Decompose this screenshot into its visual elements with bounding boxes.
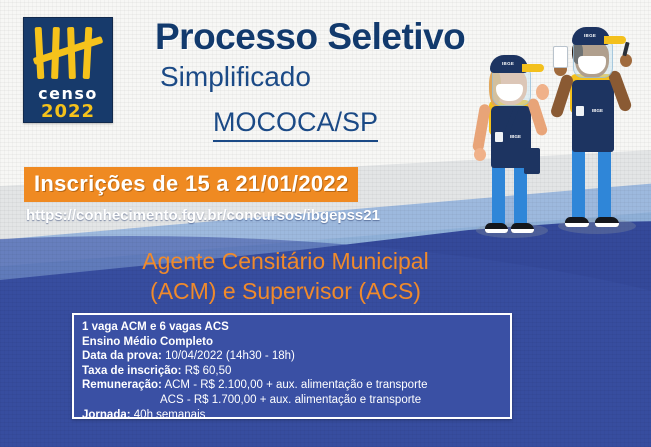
detail-education: Ensino Médio Completo xyxy=(82,335,502,350)
agent-left-cap-brim xyxy=(522,64,544,72)
agent-left-leg-left xyxy=(492,160,505,230)
role-title-line-1: Agente Censitário Municipal xyxy=(142,248,428,274)
tally-mark-4 xyxy=(83,27,93,79)
registration-period-text: Inscrições de 15 a 21/01/2022 xyxy=(34,171,348,196)
role-title-line-2: (ACM) e Supervisor (ACS) xyxy=(0,276,571,306)
agent-right-vest-label: IBGE xyxy=(592,108,603,113)
detail-pay-acs-value: ACS - R$ 1.700,00 + aux. alimentação e t… xyxy=(160,394,421,406)
agent-right-cap-label: IBGE xyxy=(584,33,596,38)
agent-right-sole-right xyxy=(595,223,619,227)
details-box: 1 vaga ACM e 6 vagas ACS Ensino Médio Co… xyxy=(72,313,512,419)
detail-vacancies-text: 1 vaga ACM e 6 vagas ACS xyxy=(82,321,229,333)
agent-left-cap-label: IBGE xyxy=(502,61,514,66)
page-title-city: MOCOCA/SP xyxy=(213,107,378,142)
censo-2022-logo: censo 2022 xyxy=(23,17,113,123)
agent-left-bag xyxy=(524,148,540,174)
agent-right-vest xyxy=(572,80,614,152)
detail-pay-acm: Remuneração: ACM - R$ 2.100,00 + aux. al… xyxy=(82,378,502,393)
poster-root: IBGE IBGE IBGE xyxy=(0,0,651,447)
logo-year-2022: 2022 xyxy=(24,101,112,122)
agent-left-hand-left xyxy=(474,148,486,161)
registration-url[interactable]: https://conhecimento.fgv.br/concursos/ib… xyxy=(26,207,380,224)
agent-right-cap-brim xyxy=(604,36,626,44)
agent-right-leg-left xyxy=(572,146,585,224)
detail-hours-label: Jornada: xyxy=(82,409,131,421)
page-title-line-2: Simplificado xyxy=(160,61,311,93)
detail-fee-label: Taxa de inscrição: xyxy=(82,365,182,377)
detail-fee: Taxa de inscrição: R$ 60,50 xyxy=(82,364,502,379)
detail-exam-date-label: Data da prova: xyxy=(82,350,162,362)
agent-left-id-badge xyxy=(495,132,503,142)
agent-right-id-badge xyxy=(576,106,584,116)
agent-left-sole-right xyxy=(511,229,534,233)
detail-exam-date: Data da prova: 10/04/2022 (14h30 - 18h) xyxy=(82,349,502,364)
detail-pay-acs: ACS - R$ 1.700,00 + aux. alimentação e t… xyxy=(82,393,502,408)
illustration-agent-left: IBGE IBGE xyxy=(462,48,572,268)
detail-exam-date-value: 10/04/2022 (14h30 - 18h) xyxy=(162,350,295,362)
agent-left-hand-right xyxy=(536,84,549,100)
role-title: Agente Censitário Municipal (ACM) e Supe… xyxy=(0,246,651,306)
registration-period-banner: Inscrições de 15 a 21/01/2022 xyxy=(24,167,358,202)
detail-pay-acm-value: ACM - R$ 2.100,00 + aux. alimentação e t… xyxy=(162,379,428,391)
detail-pay-label: Remuneração: xyxy=(82,379,162,391)
page-title-line-1: Processo Seletivo xyxy=(155,16,465,58)
detail-hours-value: 40h semanais xyxy=(131,409,206,421)
agent-left-sole-left xyxy=(485,229,508,233)
agent-left-vest-label: IBGE xyxy=(510,134,521,139)
detail-education-text: Ensino Médio Completo xyxy=(82,336,213,348)
detail-fee-value: R$ 60,50 xyxy=(182,365,232,377)
detail-hours: Jornada: 40h semanais xyxy=(82,408,502,423)
agent-right-leg-right xyxy=(598,146,611,224)
detail-vacancies: 1 vaga ACM e 6 vagas ACS xyxy=(82,320,502,335)
tally-marks-icon xyxy=(30,23,106,83)
tally-mark-1 xyxy=(35,27,45,79)
